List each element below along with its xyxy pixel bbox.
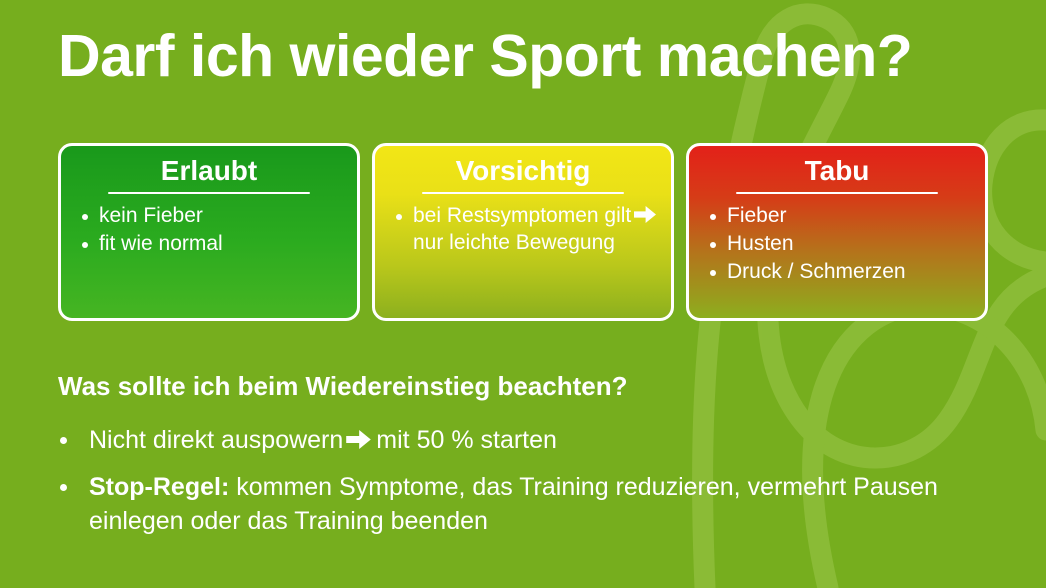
list-item-stop-regel: Stop-Regel: kommen Symptome, das Trainin…	[58, 471, 958, 538]
card-tabu-title: Tabu	[697, 156, 977, 191]
card-vorsichtig-divider	[422, 192, 624, 194]
card-erlaubt-list: kein Fieber fit wie normal	[69, 203, 349, 258]
stop-regel-label: Stop-Regel:	[89, 473, 229, 501]
status-card-row: Erlaubt kein Fieber fit wie normal Vorsi…	[58, 143, 988, 321]
recommendation-list: Nicht direkt auspowernmit 50 % starten S…	[58, 424, 958, 552]
list-item: Fieber	[697, 203, 977, 230]
list-item-text-before-arrow: bei Restsymptomen gilt	[413, 204, 631, 227]
right-arrow-icon	[346, 430, 371, 449]
bullet-text-before-arrow: Nicht direkt auspowern	[89, 426, 343, 454]
slide-content: Darf ich wieder Sport machen? Erlaubt ke…	[0, 0, 1046, 588]
card-erlaubt-title: Erlaubt	[69, 156, 349, 191]
list-item: kein Fieber	[69, 203, 349, 230]
list-item-nicht-direkt-auspowern: Nicht direkt auspowernmit 50 % starten	[58, 424, 958, 457]
card-vorsichtig: Vorsichtig bei Restsymptomen giltnur lei…	[372, 143, 674, 321]
list-item: Druck / Schmerzen	[697, 259, 977, 286]
list-item: fit wie normal	[69, 231, 349, 258]
page-title: Darf ich wieder Sport machen?	[58, 26, 912, 88]
list-item: bei Restsymptomen giltnur leichte Bewegu…	[383, 203, 663, 257]
card-tabu-divider	[736, 192, 938, 194]
card-vorsichtig-list: bei Restsymptomen giltnur leichte Bewegu…	[383, 203, 663, 257]
list-item-text-after-arrow: nur leichte Bewegung	[413, 231, 615, 254]
card-tabu-list: Fieber Husten Druck / Schmerzen	[697, 203, 977, 286]
section-subheading: Was sollte ich beim Wiedereinstieg beach…	[58, 371, 628, 402]
bullet-text-after-arrow: mit 50 % starten	[376, 426, 557, 454]
right-arrow-icon	[634, 206, 656, 223]
card-erlaubt: Erlaubt kein Fieber fit wie normal	[58, 143, 360, 321]
card-erlaubt-divider	[108, 192, 310, 194]
list-item: Husten	[697, 231, 977, 258]
card-vorsichtig-title: Vorsichtig	[383, 156, 663, 191]
card-tabu: Tabu Fieber Husten Druck / Schmerzen	[686, 143, 988, 321]
